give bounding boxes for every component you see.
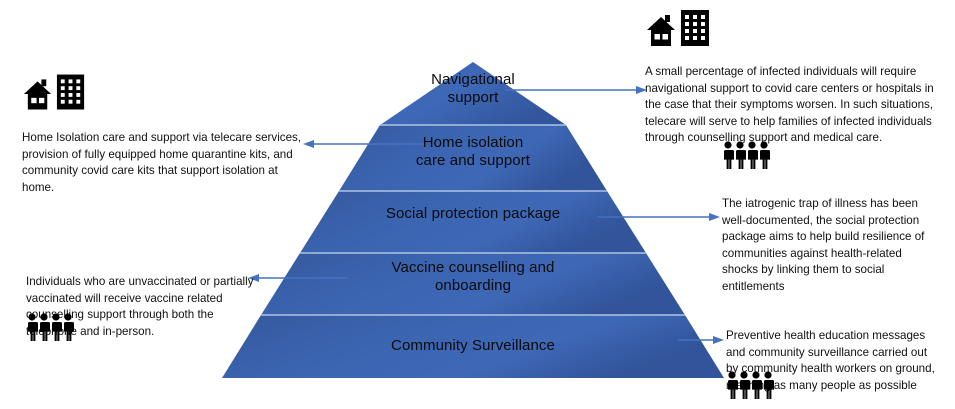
group-of-people-icon	[722, 140, 770, 170]
note-home-isolation: Home Isolation care and support via tele…	[22, 114, 306, 213]
pyramid-tier-5-shape	[222, 315, 724, 378]
pyramid-tier-1-shape	[380, 62, 566, 125]
group-of-people-icon	[26, 312, 74, 342]
note-social-protection: The iatrogenic trap of illness has been …	[722, 180, 938, 312]
note-social-protection-text: The iatrogenic trap of illness has been …	[722, 196, 938, 295]
note-navigational-support: A small percentage of infected individua…	[645, 48, 943, 163]
note-navigational-support-text: A small percentage of infected individua…	[645, 64, 943, 146]
pyramid-tier-2-shape	[339, 125, 607, 191]
pyramid-tier-3-shape	[300, 191, 646, 253]
house-and-building-icon	[645, 8, 713, 50]
group-of-people-icon	[726, 370, 774, 400]
diagram-canvas: Navigational support Home isolation care…	[0, 0, 955, 409]
note-home-isolation-text: Home Isolation care and support via tele…	[22, 130, 306, 196]
house-and-building-icon	[22, 72, 88, 114]
pyramid-tier-4-shape	[261, 253, 685, 315]
